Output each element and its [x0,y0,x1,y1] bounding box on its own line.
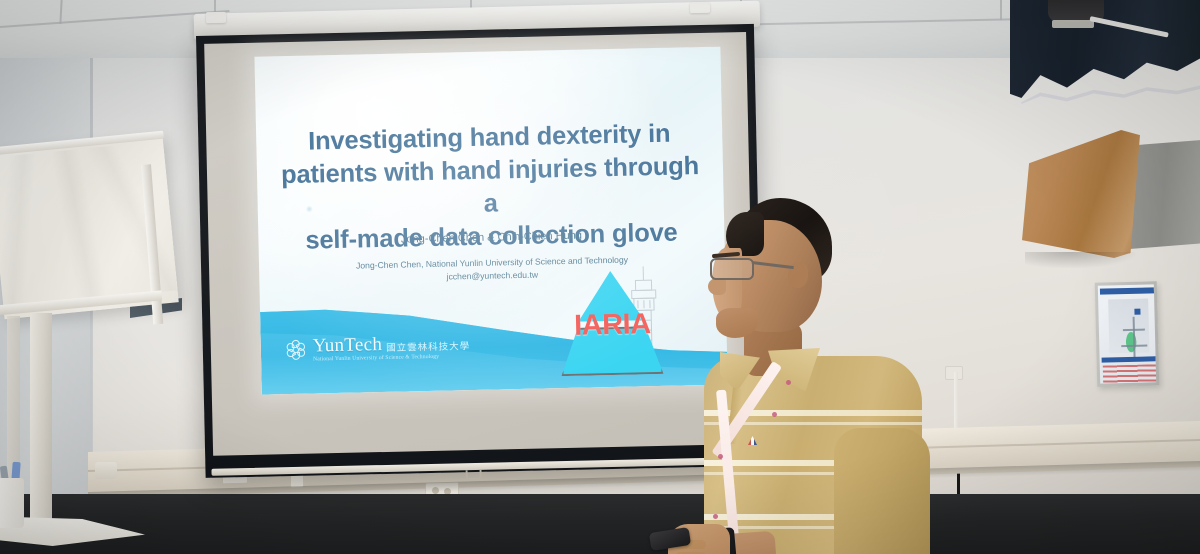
map-line [1133,317,1136,361]
photo-scene: Investigating hand dexterity in patients… [0,0,1200,554]
flipchart-post [30,313,52,535]
iaria-logo: IARIA [555,270,669,380]
evacuation-plan-frame [1095,281,1160,386]
wall-panel-shadow [1025,252,1135,268]
screen-mount-bracket [206,12,226,23]
yuntech-chinese-name: 國立雲林科技大學 [386,342,470,353]
wall-shelf-cup [95,462,117,479]
notice-floor-map [1108,298,1149,353]
notice-header-bar [1100,287,1154,294]
presenter-nose [708,278,726,295]
yuntech-logo: YunTech 國立雲林科技大學 National Yunlin Univers… [285,333,471,364]
lanyard-print [786,380,791,385]
ceiling-grid-line [1000,0,1002,20]
carpet-floor [0,494,1200,554]
marker-cup [0,478,24,528]
presenter [672,196,942,554]
map-line [1121,345,1147,348]
lanyard-print [713,514,718,519]
notice-legend [1103,364,1156,383]
yuntech-flower-icon [285,339,307,361]
screen-pull-hook [466,470,482,480]
glasses-icon [710,258,754,280]
yuntech-wordmark: YunTech 國立雲林科技大學 National Yunlin Univers… [313,333,471,364]
iaria-label: IARIA [556,308,669,343]
map-line [1123,329,1145,332]
slide-title-line-2: patients with hand injuries through a [281,150,700,225]
presentation-slide: Investigating hand dexterity in patients… [254,47,727,395]
lanyard-print [718,454,723,459]
lanyard-print [772,412,777,417]
ceiling-grid-line [59,0,62,24]
map-marker [1134,309,1140,315]
ceiling-light-lens [1052,20,1094,28]
evacuation-plan-sheet [1098,284,1156,383]
presenter-sleeve [834,428,930,554]
notice-divider-bar [1102,356,1156,362]
screen-mount-bracket [690,2,710,13]
yuntech-name: YunTech [313,335,383,356]
